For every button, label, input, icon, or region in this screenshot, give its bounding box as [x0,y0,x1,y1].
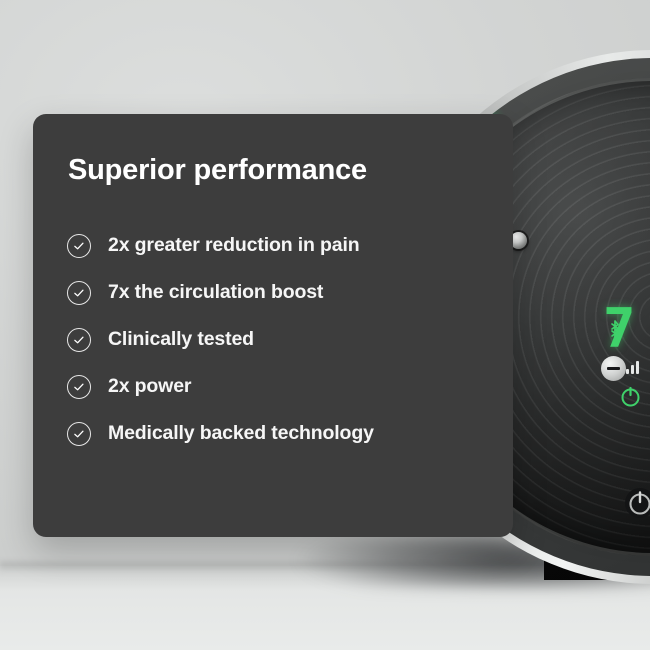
feature-label: 2x greater reduction in pain [108,234,360,257]
power-icon-green[interactable] [620,386,641,407]
product-scene: REVIT 7 [0,0,650,650]
feature-label: Medically backed technology [108,422,374,445]
power-button-icon[interactable] [622,485,650,521]
bluetooth-icon [607,319,623,341]
feature-label: 7x the circulation boost [108,281,323,304]
list-item: 2x power [67,363,495,410]
feature-label: 2x power [108,375,191,398]
check-circle-icon [67,281,91,305]
list-item: 7x the circulation boost [67,269,495,316]
list-item: Clinically tested [67,316,495,363]
list-item: Medically backed technology [67,410,495,457]
signal-bars-icon [626,360,639,374]
list-item: 2x greater reduction in pain [67,222,495,269]
feature-card: Superior performance 2x greater reductio… [33,114,513,537]
check-circle-icon [67,234,91,258]
check-circle-icon [67,375,91,399]
minus-button-icon[interactable] [601,356,626,381]
feature-list: 2x greater reduction in pain 7x the circ… [67,222,495,457]
card-title: Superior performance [68,154,367,187]
check-circle-icon [67,422,91,446]
check-circle-icon [67,328,91,352]
feature-label: Clinically tested [108,328,254,351]
